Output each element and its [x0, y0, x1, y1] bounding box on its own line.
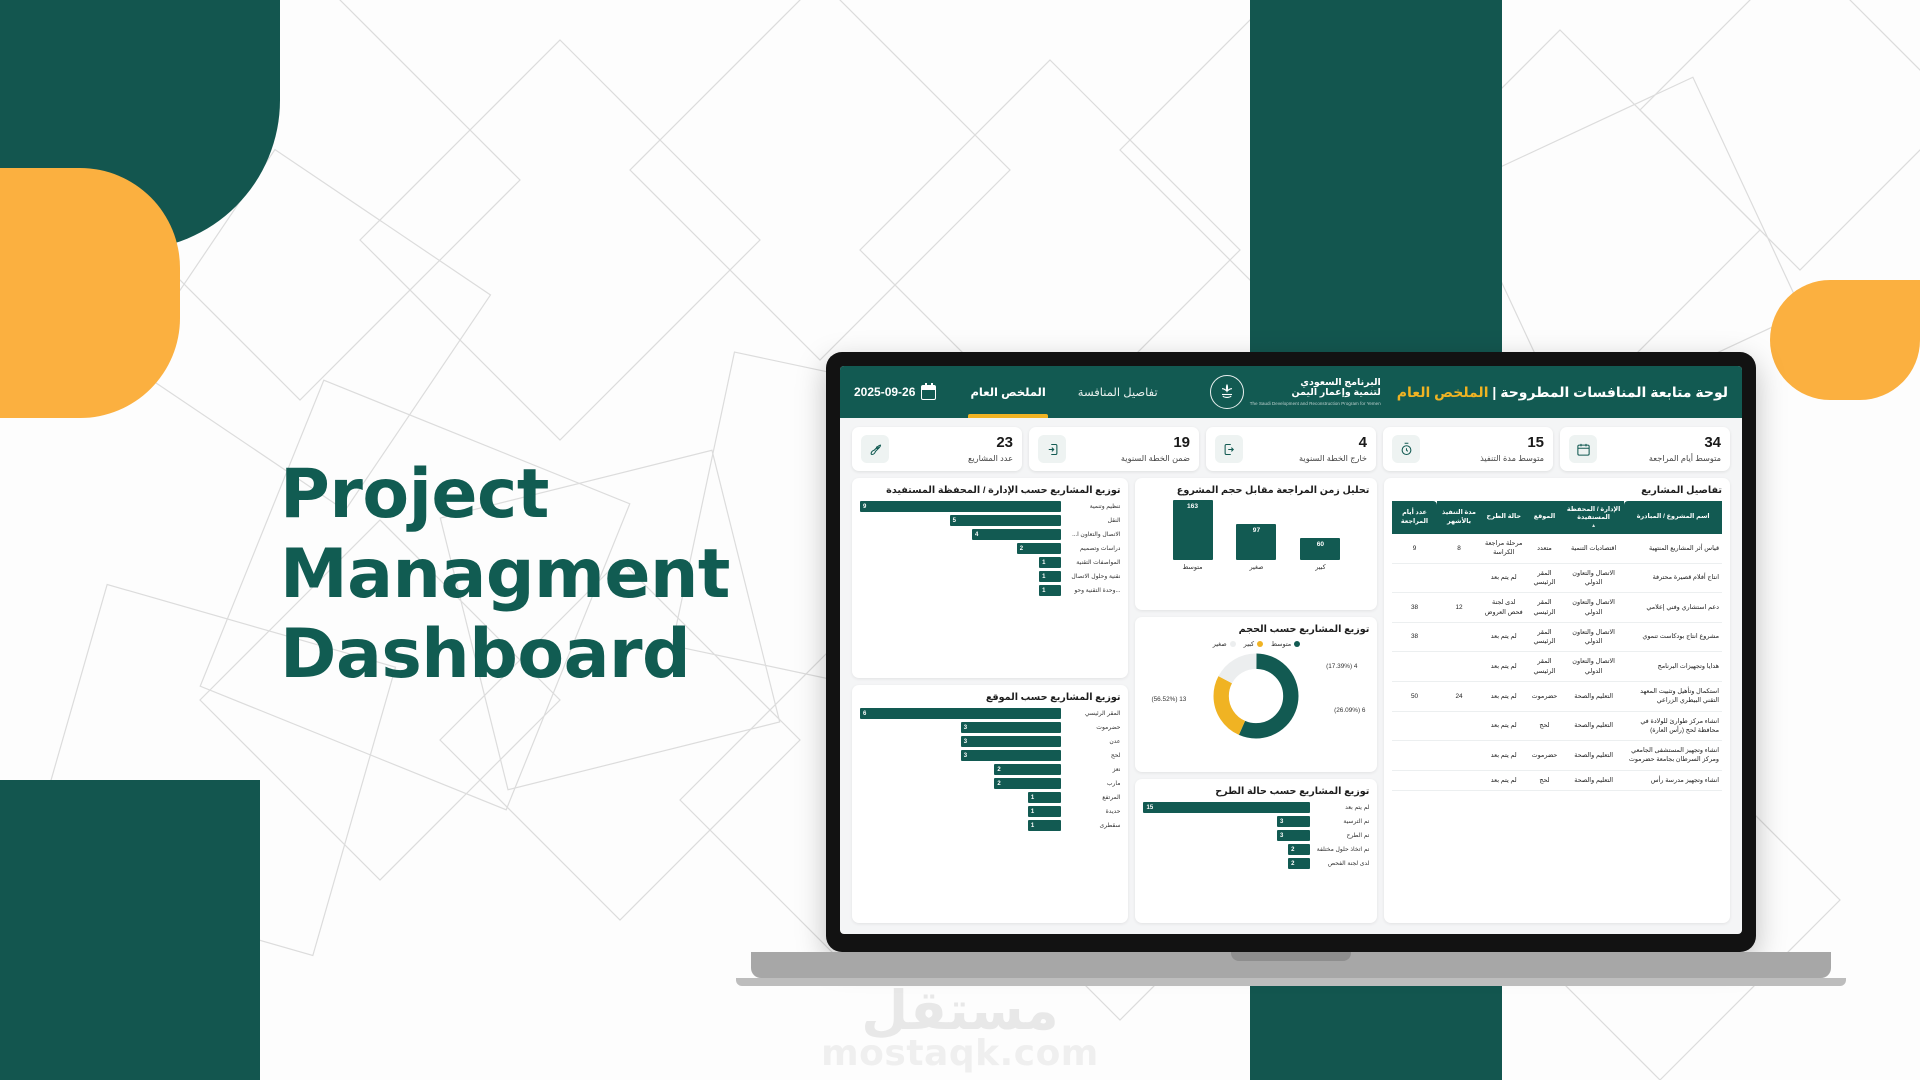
chart-title-projects-by-status: توزيع المشاريع حسب حالة الطرح: [1143, 786, 1369, 797]
header-tabs[interactable]: تفاصيل المنافسة الملخص العام: [956, 366, 1171, 418]
table-cell: لحج: [1526, 770, 1563, 790]
bar-category-label: المقر الرئيسي: [1066, 710, 1120, 717]
table-cell: [1392, 563, 1436, 593]
kpi-text-out-of-plan: 4 خارج الخطة السنوية: [1251, 435, 1367, 463]
table-cell: الاتصال والتعاون الدولي: [1563, 622, 1625, 652]
duration-icon: [1392, 435, 1420, 463]
table-cell: 38: [1392, 593, 1436, 623]
table-row[interactable]: مشروع انتاج بودكاست تنمويالاتصال والتعاو…: [1392, 622, 1722, 652]
bar-category-label: ...وحدة التقنية وحو: [1066, 587, 1120, 594]
column-middle-charts: تحليل زمن المراجعة مقابل حجم المشروع 60ك…: [1135, 478, 1377, 923]
bar-track: 2: [1143, 844, 1310, 855]
col-review-days[interactable]: عدد أيام المراجعة: [1392, 501, 1436, 534]
bar-category-label: تم اتخاذ حلول مختلفة: [1315, 846, 1369, 853]
bar-category-label: لم يتم بعد: [1315, 804, 1369, 811]
table-cell: [1437, 741, 1482, 771]
bar-category-label: لحج: [1066, 752, 1120, 759]
legend-label: صغير: [1213, 640, 1227, 648]
table-row[interactable]: استكمال وتأهيل وتثبيت المعهد التقني البي…: [1392, 681, 1722, 711]
bar-category-label: تعز: [1066, 766, 1120, 773]
page-title-main: لوحة متابعة المنافسات المطروحة |: [1492, 384, 1728, 400]
bar-row: لدى لجنة الفحص2: [1143, 858, 1369, 869]
tab-competition-details[interactable]: تفاصيل المنافسة: [1064, 366, 1172, 418]
col-location[interactable]: الموقع: [1526, 501, 1563, 534]
panel-projects-by-department: توزيع المشاريع حسب الإدارة / المحفظة الم…: [852, 478, 1128, 678]
table-cell: انشاء وتجهيز مدرسة رأس: [1624, 770, 1722, 790]
bar[interactable]: 3: [961, 750, 1062, 761]
table-cell: [1392, 770, 1436, 790]
table-cell: [1392, 711, 1436, 741]
laptop-lid: لوحة متابعة المنافسات المطروحة | الملخص …: [826, 352, 1756, 952]
header-date[interactable]: 2025-09-26: [854, 385, 936, 400]
bar-track: 5: [860, 515, 1061, 526]
bar-row: عدن3: [860, 736, 1120, 747]
table-cell: 38: [1392, 622, 1436, 652]
dashboard-app: لوحة متابعة المنافسات المطروحة | الملخص …: [840, 366, 1742, 934]
bar-row: تم اتخاذ حلول مختلفة2: [1143, 844, 1369, 855]
table-cell: التعليم والصحة: [1563, 681, 1625, 711]
table-cell: لم يتم بعد: [1481, 652, 1526, 682]
bar[interactable]: 5: [950, 515, 1062, 526]
kpi-card-projects-count: 23 عدد المشاريع: [852, 427, 1022, 471]
panel-project-details: تفاصيل المشاريع اسم المشروع / المبادرة ا…: [1384, 478, 1730, 923]
bar[interactable]: 1: [1028, 792, 1062, 803]
bar-row: تم الطرح3: [1143, 830, 1369, 841]
laptop-foot: [736, 978, 1846, 986]
table-row[interactable]: انتاج أفلام قصيرة محترفةالاتصال والتعاون…: [1392, 563, 1722, 593]
kpi-card-avg-review-days: 34 متوسط أيام المراجعة: [1560, 427, 1730, 471]
table-cell: المقر الرئيسي: [1526, 622, 1563, 652]
table-cell: 9: [1392, 534, 1436, 563]
review-days-icon: [1569, 435, 1597, 463]
table-cell: مرحلة مراجعة الكراسة: [1481, 534, 1526, 563]
green-shape-bottom-left: [0, 780, 260, 1080]
kpi-text-in-plan: 19 ضمن الخطة السنوية: [1074, 435, 1190, 463]
table-row[interactable]: دعم استشاري وفني إعلاميالاتصال والتعاون …: [1392, 593, 1722, 623]
project-table-scroll[interactable]: اسم المشروع / المبادرة الإدارة / المحفظة…: [1392, 501, 1722, 918]
bar[interactable]: 2: [1017, 543, 1062, 554]
bar-group: 60كبير: [1299, 538, 1341, 571]
table-cell: لحج: [1526, 711, 1563, 741]
date-value: 2025-09-26: [854, 385, 915, 399]
bar[interactable]: 1: [1039, 585, 1061, 596]
bar[interactable]: 4: [972, 529, 1062, 540]
bar-category-label: المرتفع: [1066, 794, 1120, 801]
sort-caret-icon: ▲: [1566, 523, 1622, 530]
table-cell: المقر الرئيسي: [1526, 563, 1563, 593]
laptop-screen: لوحة متابعة المنافسات المطروحة | الملخص …: [840, 366, 1742, 934]
bar-category-label: سقطرى: [1066, 822, 1120, 829]
bar-category-label: لدى لجنة الفحص: [1315, 860, 1369, 867]
bar-track: 6: [860, 708, 1061, 719]
laptop-base: [751, 952, 1831, 978]
panel-review-vs-size: تحليل زمن المراجعة مقابل حجم المشروع 60ك…: [1135, 478, 1377, 610]
vertical-bar-chart-review-vs-size: 60كبير97صغير163متوسط: [1143, 501, 1369, 571]
bar[interactable]: 60: [1300, 538, 1340, 560]
dashboard-content: تفاصيل المشاريع اسم المشروع / المبادرة ا…: [840, 475, 1742, 933]
bar[interactable]: 3: [1277, 816, 1310, 827]
bar-row: حضرموت3: [860, 722, 1120, 733]
legend-label: متوسط: [1271, 640, 1291, 648]
col-name[interactable]: اسم المشروع / المبادرة: [1624, 501, 1722, 534]
table-cell: [1437, 770, 1482, 790]
table-cell: لم يتم بعد: [1481, 622, 1526, 652]
table-cell: لم يتم بعد: [1481, 741, 1526, 771]
bar[interactable]: 9: [860, 501, 1061, 512]
kpi-text-projects-count: 23 عدد المشاريع: [897, 435, 1013, 463]
bar[interactable]: 15: [1143, 802, 1310, 813]
donut-chart-projects-by-size: 13 (56.52%) 6 (26.09%) 4 (17.39%): [1143, 650, 1369, 742]
table-cell: التعليم والصحة: [1563, 741, 1625, 771]
bar[interactable]: 1: [1039, 557, 1061, 568]
donut-label-large: 6 (26.09%): [1334, 707, 1365, 714]
bar[interactable]: 1: [1028, 806, 1062, 817]
bar-track: 1: [860, 820, 1061, 831]
bar-category-label: تنظيم وتنمية: [1066, 503, 1120, 510]
table-cell: 12: [1437, 593, 1482, 623]
rocket-icon: [861, 435, 889, 463]
bar-category-label: عدن: [1066, 738, 1120, 745]
bar-category-label: تم الطرح: [1315, 832, 1369, 839]
bar-category-label: دراسات وتصميم: [1066, 545, 1120, 552]
table-cell: دعم استشاري وفني إعلامي: [1624, 593, 1722, 623]
chart-title-projects-by-size: توزيع المشاريع حسب الحجم: [1143, 624, 1369, 635]
bar-row: لم يتم بعد15: [1143, 802, 1369, 813]
bar-track: 3: [860, 750, 1061, 761]
kpi-value: 4: [1251, 435, 1367, 452]
brand-line-3: The Saudi Development and Reconstruction…: [1250, 401, 1381, 406]
bar[interactable]: 1: [1039, 571, 1061, 582]
brand-logo: البرنامج السعودي لتنمية وإعمار اليمن The…: [1210, 375, 1381, 409]
bar-category-label: تقنية وحلول الاتصال: [1066, 573, 1120, 580]
table-cell: [1437, 711, 1482, 741]
hero-title-line-3: Dashboard: [280, 615, 730, 695]
table-row[interactable]: انشاء وتجهيز المستشفى الجامعي ومركز السر…: [1392, 741, 1722, 771]
legend-dot-icon: [1294, 641, 1300, 647]
table-cell: الاتصال والتعاون الدولي: [1563, 652, 1625, 682]
bar-chart-projects-by-status: لم يتم بعد15تم الترسية3تم الطرح3تم اتخاذ…: [1143, 802, 1369, 869]
legend-item[interactable]: صغير: [1213, 640, 1236, 648]
kpi-row: 34 متوسط أيام المراجعة 15 متوسط مدة: [840, 418, 1742, 475]
emblem-icon: [1210, 375, 1244, 409]
brand-logo-text: البرنامج السعودي لتنمية وإعمار اليمن The…: [1250, 378, 1381, 407]
bar-row: النقل5: [860, 515, 1120, 526]
table-cell: [1392, 652, 1436, 682]
bar-track: 2: [860, 543, 1061, 554]
bar[interactable]: 3: [1277, 830, 1310, 841]
page-title-accent: الملخص العام: [1397, 384, 1489, 400]
kpi-value: 34: [1605, 435, 1721, 452]
table-cell: استكمال وتأهيل وتثبيت المعهد التقني البي…: [1624, 681, 1722, 711]
bar-track: 2: [1143, 858, 1310, 869]
kpi-text-avg-review-days: 34 متوسط أيام المراجعة: [1605, 435, 1721, 463]
bar-row: تقنية وحلول الاتصال1: [860, 571, 1120, 582]
table-cell: [1437, 622, 1482, 652]
table-cell: المقر الرئيسي: [1526, 593, 1563, 623]
bar[interactable]: 2: [1288, 858, 1310, 869]
table-row[interactable]: قياس أثر المشاريع المنتهيةاقتصاديات التن…: [1392, 534, 1722, 563]
table-cell: المقر الرئيسي: [1526, 652, 1563, 682]
chart-title-projects-by-location: توزيع المشاريع حسب الموقع: [860, 692, 1120, 703]
table-cell: [1437, 563, 1482, 593]
bar-track: 1: [860, 585, 1061, 596]
table-cell: التعليم والصحة: [1563, 770, 1625, 790]
donut-svg: [1210, 650, 1302, 742]
table-cell: [1392, 741, 1436, 771]
kpi-label: ضمن الخطة السنوية: [1074, 453, 1190, 463]
bar-category-label: حديدة: [1066, 808, 1120, 815]
bar[interactable]: 163: [1173, 500, 1213, 560]
bar-row: المقر الرئيسي6: [860, 708, 1120, 719]
calendar-icon: [921, 385, 936, 400]
kpi-card-out-of-plan: 4 خارج الخطة السنوية: [1206, 427, 1376, 471]
tab-general-summary[interactable]: الملخص العام: [956, 366, 1059, 418]
bar-track: 3: [860, 722, 1061, 733]
table-row[interactable]: هدايا وتجهيزات البرنامجالاتصال والتعاون …: [1392, 652, 1722, 682]
kpi-label: متوسط مدة التنفيذ: [1428, 453, 1544, 463]
bar-row: المواصفات التقنية1: [860, 557, 1120, 568]
bar-category-label: تم الترسية: [1315, 818, 1369, 825]
table-cell: اقتصاديات التنمية: [1563, 534, 1625, 563]
col-months[interactable]: مدة التنفيذ بالأشهر: [1437, 501, 1482, 534]
table-cell: لم يتم بعد: [1481, 681, 1526, 711]
bar-chart-projects-by-department: تنظيم وتنمية9النقل5الاتصال والتعاون ا...…: [860, 501, 1120, 596]
bar-row: دراسات وتصميم2: [860, 543, 1120, 554]
bar-track: 15: [1143, 802, 1310, 813]
bar-category-label: المواصفات التقنية: [1066, 559, 1120, 566]
table-cell: لم يتم بعد: [1481, 563, 1526, 593]
bar-track: 3: [860, 736, 1061, 747]
bar-group: 97صغير: [1235, 524, 1277, 571]
bar-category-label: متوسط: [1182, 563, 1202, 571]
hero-title-line-1: Project: [280, 455, 730, 535]
donut-legend: متوسطكبيرصغير: [1143, 640, 1369, 648]
donut-label-small: 4 (17.39%): [1326, 663, 1357, 670]
table-cell: مشروع انتاج بودكاست تنموي: [1624, 622, 1722, 652]
table-cell: 24: [1437, 681, 1482, 711]
hero-title: Project Managment Dashboard: [280, 455, 730, 696]
panel-projects-by-size: توزيع المشاريع حسب الحجم متوسطكبيرصغير 1…: [1135, 617, 1377, 772]
bar-row: حديدة1: [860, 806, 1120, 817]
bar[interactable]: 1: [1028, 820, 1062, 831]
table-cell: الاتصال والتعاون الدولي: [1563, 593, 1625, 623]
in-plan-icon: [1038, 435, 1066, 463]
legend-dot-icon: [1230, 641, 1236, 647]
table-cell: قياس أثر المشاريع المنتهية: [1624, 534, 1722, 563]
column-project-table: تفاصيل المشاريع اسم المشروع / المبادرة ا…: [1384, 478, 1730, 923]
bar[interactable]: 97: [1236, 524, 1276, 560]
table-cell: انشاء مركز طوارئ للولادة في محافظة لحج (…: [1624, 711, 1722, 741]
out-of-plan-icon: [1215, 435, 1243, 463]
bar-row: الاتصال والتعاون ا...4: [860, 529, 1120, 540]
table-cell: [1437, 652, 1482, 682]
bar-chart-projects-by-location: المقر الرئيسي6حضرموت3عدن3لحج3تعز2مأرب2ال…: [860, 708, 1120, 831]
table-cell: متعدد: [1526, 534, 1563, 563]
table-cell: حضرموت: [1526, 681, 1563, 711]
bar-track: 1: [860, 806, 1061, 817]
chart-title-projects-by-department: توزيع المشاريع حسب الإدارة / المحفظة الم…: [860, 485, 1120, 496]
kpi-card-avg-duration: 15 متوسط مدة التنفيذ: [1383, 427, 1553, 471]
kpi-card-in-plan: 19 ضمن الخطة السنوية: [1029, 427, 1199, 471]
table-cell: 8: [1437, 534, 1482, 563]
brand-line-2: لتنمية وإعمار اليمن: [1250, 388, 1381, 399]
laptop-trackpad-notch: [1231, 952, 1351, 961]
panel-projects-by-location: توزيع المشاريع حسب الموقع المقر الرئيسي6…: [852, 685, 1128, 923]
legend-item[interactable]: كبير: [1244, 640, 1263, 648]
legend-dot-icon: [1257, 641, 1263, 647]
bar-row: تنظيم وتنمية9: [860, 501, 1120, 512]
bar[interactable]: 3: [961, 722, 1062, 733]
bar[interactable]: 3: [961, 736, 1062, 747]
column-right-charts: توزيع المشاريع حسب الإدارة / المحفظة الم…: [852, 478, 1128, 923]
laptop-mockup: لوحة متابعة المنافسات المطروحة | الملخص …: [826, 352, 1846, 986]
bar-track: 1: [860, 571, 1061, 582]
table-cell: لدى لجنة فحص العروض: [1481, 593, 1526, 623]
table-cell: انتاج أفلام قصيرة محترفة: [1624, 563, 1722, 593]
bar-track: 2: [860, 764, 1061, 775]
bar-track: 9: [860, 501, 1061, 512]
bar-category-label: صغير: [1249, 563, 1263, 571]
table-header-row: اسم المشروع / المبادرة الإدارة / المحفظة…: [1392, 501, 1722, 534]
bar-track: 1: [860, 792, 1061, 803]
bar-category-label: الاتصال والتعاون ا...: [1066, 531, 1120, 538]
bar-category-label: مأرب: [1066, 780, 1120, 787]
kpi-value: 23: [897, 435, 1013, 452]
bar-row: تم الترسية3: [1143, 816, 1369, 827]
bar-category-label: كبير: [1315, 563, 1325, 571]
kpi-label: متوسط أيام المراجعة: [1605, 453, 1721, 463]
bar-category-label: حضرموت: [1066, 724, 1120, 731]
bar-track: 4: [860, 529, 1061, 540]
page-title: لوحة متابعة المنافسات المطروحة | الملخص …: [1397, 384, 1728, 401]
bar[interactable]: 2: [994, 764, 1061, 775]
panel-title-project-details: تفاصيل المشاريع: [1392, 485, 1722, 496]
bar-track: 3: [1143, 816, 1310, 827]
table-cell: حضرموت: [1526, 741, 1563, 771]
bar-row: المرتفع1: [860, 792, 1120, 803]
table-row[interactable]: انشاء وتجهيز مدرسة رأسالتعليم والصحةلحجل…: [1392, 770, 1722, 790]
bar-track: 2: [860, 778, 1061, 789]
table-cell: انشاء وتجهيز المستشفى الجامعي ومركز السر…: [1624, 741, 1722, 771]
bar-row: تعز2: [860, 764, 1120, 775]
header-brand-group: لوحة متابعة المنافسات المطروحة | الملخص …: [1210, 375, 1728, 409]
dashboard-header: لوحة متابعة المنافسات المطروحة | الملخص …: [840, 366, 1742, 418]
table-cell: لم يتم بعد: [1481, 711, 1526, 741]
table-cell: الاتصال والتعاون الدولي: [1563, 563, 1625, 593]
bar-category-label: النقل: [1066, 517, 1120, 524]
table-row[interactable]: انشاء مركز طوارئ للولادة في محافظة لحج (…: [1392, 711, 1722, 741]
panel-projects-by-status: توزيع المشاريع حسب حالة الطرح لم يتم بعد…: [1135, 779, 1377, 923]
yellow-shape-left: [0, 168, 180, 418]
kpi-label: خارج الخطة السنوية: [1251, 453, 1367, 463]
bar[interactable]: 2: [1288, 844, 1310, 855]
table-cell: هدايا وتجهيزات البرنامج: [1624, 652, 1722, 682]
donut-label-medium: 13 (56.52%): [1151, 696, 1186, 703]
col-status[interactable]: حالة الطرح: [1481, 501, 1526, 534]
bar-track: 3: [1143, 830, 1310, 841]
kpi-label: عدد المشاريع: [897, 453, 1013, 463]
bar-row: ...وحدة التقنية وحو1: [860, 585, 1120, 596]
hero-title-line-2: Managment: [280, 535, 730, 615]
project-table-head: اسم المشروع / المبادرة الإدارة / المحفظة…: [1392, 501, 1722, 534]
bar-track: 1: [860, 557, 1061, 568]
bar[interactable]: 6: [860, 708, 1061, 719]
bar-group: 163متوسط: [1172, 500, 1214, 571]
table-cell: لم يتم بعد: [1481, 770, 1526, 790]
legend-item[interactable]: متوسط: [1271, 640, 1300, 648]
project-table: اسم المشروع / المبادرة الإدارة / المحفظة…: [1392, 501, 1722, 791]
col-department[interactable]: الإدارة / المحفظة المستفيدة ▲: [1563, 501, 1625, 534]
legend-label: كبير: [1244, 640, 1254, 648]
bar-row: لحج3: [860, 750, 1120, 761]
bar[interactable]: 2: [994, 778, 1061, 789]
bar-row: مأرب2: [860, 778, 1120, 789]
kpi-text-avg-duration: 15 متوسط مدة التنفيذ: [1428, 435, 1544, 463]
table-cell: التعليم والصحة: [1563, 711, 1625, 741]
table-cell: 50: [1392, 681, 1436, 711]
kpi-value: 19: [1074, 435, 1190, 452]
bar-row: سقطرى1: [860, 820, 1120, 831]
chart-title-review-vs-size: تحليل زمن المراجعة مقابل حجم المشروع: [1143, 485, 1369, 496]
project-table-body: قياس أثر المشاريع المنتهيةاقتصاديات التن…: [1392, 534, 1722, 790]
kpi-value: 15: [1428, 435, 1544, 452]
